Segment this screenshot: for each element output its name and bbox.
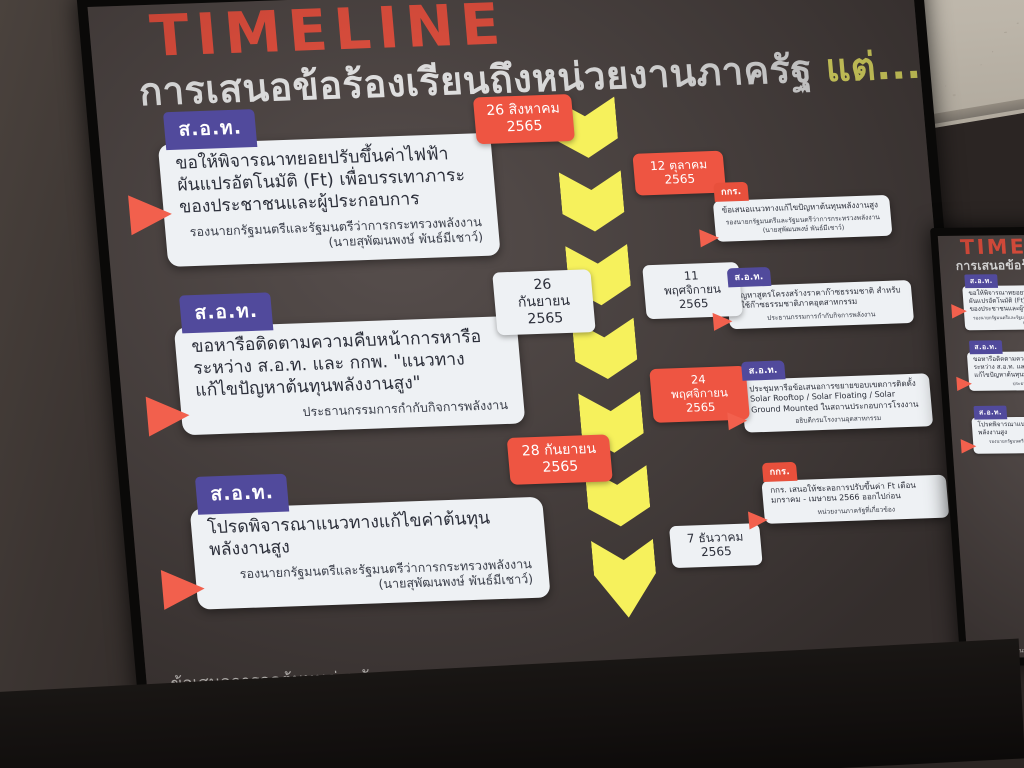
date-chip-1: 26 สิงหาคม 2565 — [473, 94, 575, 144]
chip-year: 2565 — [657, 296, 730, 312]
timeline-card-right-3: ประชุมหารือข้อเสนอการขยายขอบเขตการติดตั้… — [740, 373, 933, 433]
card-main-text: กกร. เสนอให้ชะลอการปรับขึ้นค่า Ft เดือนม… — [770, 480, 940, 507]
ceiling-speckle — [952, 94, 955, 96]
card-main-text: ขอหารือติดตามความคืบหน้าการหารือระหว่าง … — [191, 326, 507, 402]
card-main-text: ขอให้พิจารณาทยอยปรับขึ้นค่าไฟฟ้าผันแปรอั… — [175, 143, 481, 219]
chip-year: 2565 — [521, 458, 601, 477]
ceiling-speckle — [945, 85, 946, 86]
chip-date: 7 ธันวาคม — [682, 530, 749, 547]
card-main-text: ขอให้พิจารณาทยอยปรับขึ้นค่าไฟฟ้าผันแปรอั… — [968, 288, 1024, 313]
card-main-text: โปรดพิจารณาแนวทางแก้ไขค่าต้นทุนพลังงานสู… — [207, 507, 531, 562]
card-main-text: ขอหารือติดตามความคืบหน้าการหารือระหว่าง … — [973, 355, 1024, 380]
chip-year: 2565 — [487, 117, 563, 136]
chip-date: 12 ตุลาคม — [645, 157, 712, 174]
chip-year: 2565 — [508, 309, 584, 328]
chevron-segment — [559, 170, 627, 244]
timeline-card-left-3: โปรดพิจารณาแนวทางแก้ไขค่าต้นทุนพลังงานสู… — [190, 497, 551, 610]
card-sub-text: รองนายกรัฐมนตรีและรัฐมนตรีว่าการกระทรวงพ… — [211, 556, 534, 598]
badge-kokor-1: กกร. — [713, 182, 749, 202]
timeline-card-left-1: ขอให้พิจารณาทยอยปรับขึ้นค่าไฟฟ้าผันแปรอั… — [158, 133, 501, 267]
ceiling-speckle — [1017, 23, 1019, 24]
timeline-card-secondary-2: ขอหารือติดตามความคืบหน้าการหารือระหว่าง … — [967, 351, 1024, 391]
card-sub-text: หน่วยงานภาครัฐที่เกี่ยวข้อง — [772, 504, 941, 518]
timeline-card-right-2: ปัญหาสูตรโครงสร้างราคาก๊าซธรรมชาติ สำหรั… — [726, 280, 914, 329]
card-sub-text: รองนายกรัฐมนตรีและรัฐมนตรีว่าการกระทรวงพ… — [979, 437, 1024, 449]
date-chip-3: 26 กันยายน 2565 — [492, 269, 596, 336]
badge-sot-5: ส.อ.ท. — [741, 360, 786, 380]
timeline-card-secondary-3: โปรดพิจารณาแนวทางแก้ไขค่าต้นทุนพลังงานสู… — [971, 416, 1024, 454]
card-sub-text: ประธานกรรมการกำกับกิจการพลังงาน — [737, 309, 906, 323]
badge-sot-secondary-3: ส.อ.ท. — [973, 406, 1007, 420]
arrow-marker-icon-secondary-2 — [956, 377, 972, 392]
chevron-arrow-tip — [591, 539, 660, 619]
card-sub-text: รองนายกรัฐมนตรีและรัฐมนตรีว่าการกระทรวงพ… — [722, 213, 884, 235]
card-sub-text: รองนายกรัฐมนตรีและรัฐมนตรีว่าการกระทรวงพ… — [970, 314, 1024, 326]
arrow-marker-icon-4 — [699, 229, 720, 248]
card-main-text: ประชุมหารือข้อเสนอการขยายขอบเขตการติดตั้… — [749, 379, 924, 416]
chip-date: 26 สิงหาคม — [485, 100, 561, 119]
timeline-card-left-2: ขอหารือติดตามความคืบหน้าการหารือระหว่าง … — [174, 316, 526, 435]
presentation-slide: TIMELINE การเสนอข้อร้องเรียนถึงหน่วยงานภ… — [88, 0, 974, 704]
arrow-marker-icon-secondary-1 — [951, 304, 967, 319]
chip-year: 2565 — [683, 544, 750, 561]
chip-date: 28 กันยายน — [519, 441, 599, 460]
badge-sot-4: ส.อ.ท. — [727, 267, 772, 287]
chip-date: 11 พฤศจิกายน — [655, 268, 729, 298]
date-chip-2: 12 ตุลาคม 2565 — [632, 151, 726, 196]
date-chip-5: 28 กันยายน 2565 — [507, 434, 613, 484]
card-sub-text: รองนายกรัฐมนตรีและรัฐมนตรีว่าการกระทรวงพ… — [181, 214, 484, 255]
card-main-text: ปัญหาสูตรโครงสร้างราคาก๊าซธรรมชาติ สำหรั… — [735, 285, 905, 312]
arrow-marker-icon-6 — [727, 412, 748, 431]
chip-date: 26 กันยายน — [505, 276, 582, 312]
badge-sot-3: ส.อ.ท. — [195, 474, 290, 515]
badge-sot-1: ส.อ.ท. — [163, 109, 258, 150]
card-sub-text: ประธานกรรมการกำกับกิจการพลังงาน — [975, 380, 1024, 387]
date-chip-7: 7 ธันวาคม 2565 — [669, 523, 763, 568]
ceiling-speckle — [980, 64, 982, 65]
arrow-marker-icon-1 — [128, 194, 174, 235]
arrow-marker-icon-7 — [748, 511, 769, 530]
timeline-card-right-4: กกร. เสนอให้ชะลอการปรับขึ้นค่า Ft เดือนม… — [761, 475, 949, 524]
arrow-marker-icon-3 — [161, 569, 207, 610]
timeline-card-right-1: ข้อเสนอแนวทางแก้ไขปัญหาต้นทุนพลังงานสูง … — [713, 195, 893, 242]
slide-title-highlight-but: แต่... — [824, 43, 923, 90]
primary-display-monitor: TIMELINE การเสนอข้อร้องเรียนถึงหน่วยงานภ… — [76, 0, 984, 717]
chip-date: 24 พฤศจิกายน — [662, 372, 736, 402]
badge-kokor-2: กกร. — [762, 462, 798, 482]
card-sub-text: อธิบดีกรมโรงงานอุตสาหกรรม — [752, 413, 925, 427]
arrow-marker-icon-secondary-3 — [961, 439, 977, 454]
badge-sot-secondary-2: ส.อ.ท. — [969, 340, 1003, 354]
ceiling-speckle — [992, 52, 993, 53]
ceiling-speckle — [1004, 31, 1007, 33]
card-main-text: โปรดพิจารณาแนวทางแก้ไขค่าต้นทุนพลังงานสู… — [977, 420, 1024, 437]
badge-sot-2: ส.อ.ท. — [179, 292, 274, 333]
arrow-marker-icon-2 — [146, 395, 192, 436]
badge-sot-secondary-1: ส.อ.ท. — [964, 274, 998, 288]
photo-scene: TIMELINE การเสนอข้อร้องเรียนถึงหน่วยงานภ… — [0, 0, 1024, 768]
arrow-marker-icon-5 — [713, 312, 734, 331]
timeline-card-secondary-1: ขอให้พิจารณาทยอยปรับขึ้นค่าไฟฟ้าผันแปรอั… — [962, 285, 1024, 330]
slide-title-thai-secondary: การเสนอข้อร้องเรียนถึงหน่วยงานภาครัฐ — [955, 254, 1024, 276]
chip-year: 2565 — [646, 171, 713, 188]
